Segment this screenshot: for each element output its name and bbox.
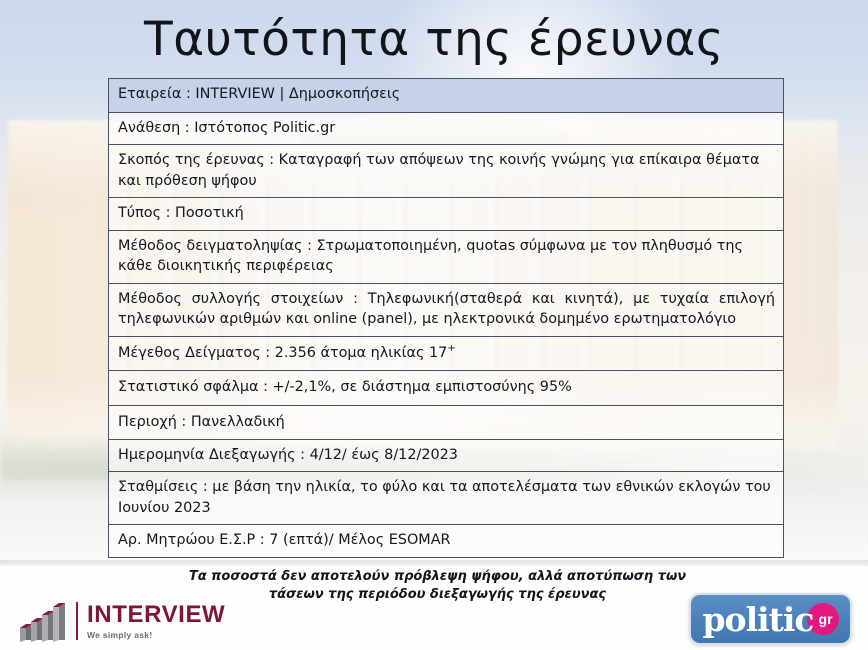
table-cell-weighting: Σταθμίσεις : με βάση την ηλικία, το φύλο… [118,477,775,518]
table-row: Μέγεθος Δείγματος : 2.356 άτομα ηλικίας … [109,337,783,371]
ascending-3d-bars-icon [16,600,74,642]
interview-logo: INTERVIEW We simply ask! [16,598,231,644]
interview-wordmark: INTERVIEW We simply ask! [87,603,225,640]
politic-wordmark: politic gr [702,603,838,636]
slide: Ταυτότητα της έρευνας Εταιρεία : INTERVI… [0,0,868,650]
table-cell-region: Περιοχή : Πανελλαδική [118,412,775,432]
table-cell-type: Τύπος : Ποσοτική [118,203,775,223]
table-cell-sampling-method: Μέθοδος δειγματοληψίας : Στρωματοποιημέν… [118,236,775,277]
table-cell-collection-method: Μέθοδος συλλογής στοιχείων : Τηλεφωνική(… [118,289,775,330]
politic-gr-text: gr [813,612,833,626]
footnote-line-1: Τα ποσοστά δεν αποτελούν πρόβλεψη ψήφου,… [170,568,705,586]
table-cell-company: Εταιρεία : INTERVIEW | Δημοσκοπήσεις [118,84,775,104]
page-title: Ταυτότητα της έρευνας [0,14,868,66]
politic-word: politic [702,603,813,636]
table-row: Μέθοδος δειγματοληψίας : Στρωματοποιημέν… [109,231,783,284]
survey-identity-table: Εταιρεία : INTERVIEW | Δημοσκοπήσεις Ανά… [108,78,784,558]
table-row: Μέθοδος συλλογής στοιχείων : Τηλεφωνική(… [109,284,783,337]
table-cell-commissioned-by: Ανάθεση : Ιστότοπος Politic.gr [118,118,775,138]
table-row: Σταθμίσεις : με βάση την ηλικία, το φύλο… [109,472,783,525]
table-cell-registry-number: Αρ. Μητρώου Ε.Σ.Ρ : 7 (επτά)/ Μέλος ESOM… [118,530,775,550]
politic-gr-logo: politic gr [689,593,852,645]
logo-divider [76,602,78,640]
footnote: Τα ποσοστά δεν αποτελούν πρόβλεψη ψήφου,… [170,568,705,603]
table-row: Αρ. Μητρώου Ε.Σ.Ρ : 7 (επτά)/ Μέλος ESOM… [109,525,783,556]
table-cell-sample-size-text: Μέγεθος Δείγματος : 2.356 άτομα ηλικίας … [118,345,447,361]
interview-name: INTERVIEW [87,603,225,627]
table-row: Στατιστικό σφάλμα : +/-2,1%, σε διάστημα… [109,371,783,405]
table-row: Τύπος : Ποσοτική [109,198,783,230]
table-row: Εταιρεία : INTERVIEW | Δημοσκοπήσεις [109,79,783,113]
table-cell-sample-size: Μέγεθος Δείγματος : 2.356 άτομα ηλικίας … [118,343,775,363]
table-row: Ημερομηνία Διεξαγωγής : 4/12/ έως 8/12/2… [109,440,783,472]
footnote-line-2: τάσεων της περιόδου διεξαγωγής της έρευν… [170,586,705,604]
table-cell-fieldwork-dates: Ημερομηνία Διεξαγωγής : 4/12/ έως 8/12/2… [118,445,775,465]
interview-tagline: We simply ask! [87,631,225,640]
table-cell-statistical-error: Στατιστικό σφάλμα : +/-2,1%, σε διάστημα… [118,377,775,397]
sample-size-superscript: + [447,343,455,354]
table-row: Ανάθεση : Ιστότοπος Politic.gr [109,113,783,145]
table-cell-purpose: Σκοπός της έρευνας : Καταγραφή των απόψε… [118,150,775,191]
table-row: Σκοπός της έρευνας : Καταγραφή των απόψε… [109,145,783,198]
table-row: Περιοχή : Πανελλαδική [109,406,783,440]
